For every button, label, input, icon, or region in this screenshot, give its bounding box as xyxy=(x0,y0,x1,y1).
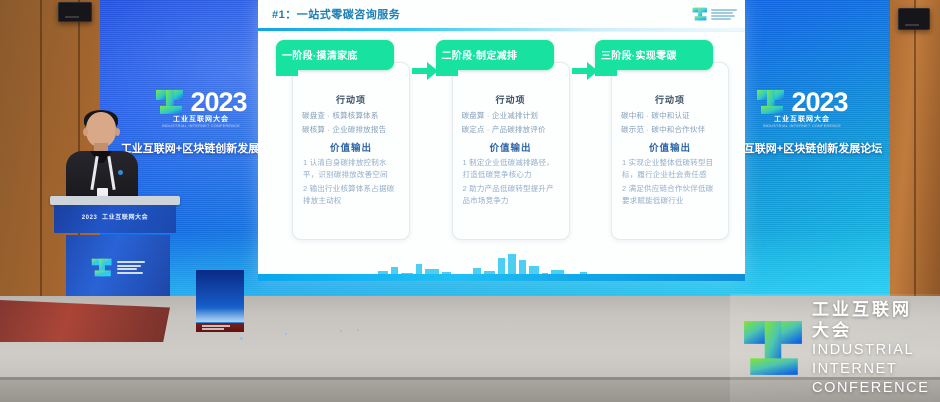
action-item: 碳核算 · 企业碳排放报告 xyxy=(302,124,401,136)
floor-reflection xyxy=(357,329,359,331)
stage-card: 行动项 碳中和 · 碳中和认证 碳示范 · 碳中和合作伙伴 价值输出 1 实现企… xyxy=(611,62,729,240)
wall-seam xyxy=(40,0,42,300)
podium-top-surface xyxy=(50,196,180,205)
stage-card-content: 行动项 碳盘算 · 企业减排计划 碳定点 · 产品碳排放评价 价值输出 1 制定… xyxy=(453,89,569,208)
conference-mark-icon xyxy=(692,6,708,22)
flow-arrow-icon xyxy=(572,62,598,80)
action-heading: 行动项 xyxy=(301,93,401,106)
watermark-line-industrial: INDUSTRIAL xyxy=(812,341,930,360)
ceiling-speaker-left xyxy=(58,2,92,22)
stage-label: 二阶段·制定减排 xyxy=(442,47,518,62)
slide-title: #1：一站式零碳咨询服务 xyxy=(272,6,400,22)
speaker-person xyxy=(66,112,138,208)
watermark-text: 工业互联网大会 INDUSTRIAL INTERNET CONFERENCE xyxy=(812,299,930,397)
value-heading: 价值输出 xyxy=(301,140,401,154)
podium-logo xyxy=(66,235,170,300)
lapel-pin xyxy=(118,170,123,175)
podium-front xyxy=(66,235,170,300)
stage-card: 行动项 碳盘查 · 核算核算体系 碳核算 · 企业碳排放报告 价值输出 1 认清… xyxy=(292,62,410,240)
stage-column: 行动项 碳盘算 · 企业减排计划 碳定点 · 产品碳排放评价 价值输出 1 制定… xyxy=(436,40,568,240)
conference-photo: 2023 工业互联网大会 INDUSTRIAL INTERNET CONFERE… xyxy=(0,0,940,402)
slide-divider-thin xyxy=(258,31,745,32)
backdrop-year-left: 2023 xyxy=(190,89,246,116)
watermark-line-conference: CONFERENCE xyxy=(812,379,930,398)
value-heading: 价值输出 xyxy=(461,140,561,154)
floor-reflection xyxy=(285,333,287,335)
podium-logo-text xyxy=(117,261,145,274)
slide-corner-logo-text xyxy=(711,9,737,20)
backdrop-year-right: 2023 xyxy=(791,89,847,116)
value-heading: 价值输出 xyxy=(620,140,720,154)
stage-card: 行动项 碳盘算 · 企业减排计划 碳定点 · 产品碳排放评价 价值输出 1 制定… xyxy=(452,62,570,240)
podium-year: 2023 xyxy=(82,215,98,221)
action-item: 碳中和 · 碳中和认证 xyxy=(621,110,720,122)
slide-bottom-band xyxy=(258,274,745,281)
i-beam-logo-icon xyxy=(742,317,804,379)
floor-reflection xyxy=(240,337,243,340)
stage-card-content: 行动项 碳中和 · 碳中和认证 碳示范 · 碳中和合作伙伴 价值输出 1 实现企… xyxy=(612,89,728,208)
banner-skyline xyxy=(196,308,244,322)
stage-column: 行动项 碳盘查 · 核算核算体系 碳核算 · 企业碳排放报告 价值输出 1 认清… xyxy=(276,40,408,240)
slide-corner-logo xyxy=(692,6,737,22)
head xyxy=(86,112,116,147)
value-item: 1 制定企业低碳减排路径，打造低碳竞争核心力 xyxy=(463,157,561,181)
action-heading: 行动项 xyxy=(461,93,561,106)
podium-brand-cn: 工业互联网大会 xyxy=(102,215,148,221)
ear xyxy=(115,128,120,136)
wall-seam xyxy=(914,0,916,300)
value-item: 2 输出行业核算体系占据碳排放主动权 xyxy=(303,183,401,207)
value-item: 2 助力产品低碳转型提升产品市场竞争力 xyxy=(463,183,561,207)
value-item: 1 认清自身碳排放控制水平，识别碳排放改善空间 xyxy=(303,157,401,181)
podium: 2023 工业互联网大会 xyxy=(50,196,180,300)
roll-up-banner xyxy=(196,270,244,332)
action-item: 碳定点 · 产品碳排放评价 xyxy=(462,124,561,136)
value-item: 2 满足供应链合作伙伴低碳要求赋能低碳行业 xyxy=(622,183,720,207)
i-beam-logo-icon xyxy=(91,257,113,278)
podium-brand-text: 2023 工业互联网大会 xyxy=(54,212,176,221)
stage-tab-notch xyxy=(595,64,617,76)
stage-column: 行动项 碳中和 · 碳中和认证 碳示范 · 碳中和合作伙伴 价值输出 1 实现企… xyxy=(595,40,727,240)
conference-watermark: 工业互联网大会 INDUSTRIAL INTERNET CONFERENCE xyxy=(730,294,940,402)
stage-label: 一阶段·摸清家底 xyxy=(282,47,358,62)
i-beam-logo-icon xyxy=(756,88,786,116)
watermark-title-cn: 工业互联网大会 xyxy=(812,299,930,342)
stage-label: 三阶段·实现零碳 xyxy=(601,47,677,62)
presentation-slide: #1：一站式零碳咨询服务 xyxy=(258,0,745,281)
action-item: 碳盘算 · 企业减排计划 xyxy=(462,110,561,122)
watermark-line-internet: INTERNET xyxy=(812,360,930,379)
floor-reflection xyxy=(340,330,342,332)
ear xyxy=(83,128,88,136)
podium-name-panel: 2023 工业互联网大会 xyxy=(54,205,176,233)
slide-columns: 行动项 碳盘查 · 核算核算体系 碳核算 · 企业碳排放报告 价值输出 1 认清… xyxy=(258,40,745,240)
stage-tab-notch xyxy=(276,64,298,76)
ceiling-speaker-right xyxy=(898,8,930,30)
action-item: 碳示范 · 碳中和合作伙伴 xyxy=(621,124,720,136)
i-beam-logo-icon xyxy=(155,88,185,116)
flow-arrow-icon xyxy=(412,62,438,80)
stage-tab-notch xyxy=(436,64,458,76)
banner-base xyxy=(196,323,244,332)
action-heading: 行动项 xyxy=(620,93,720,106)
action-item: 碳盘查 · 核算核算体系 xyxy=(302,110,401,122)
stage-card-content: 行动项 碳盘查 · 核算核算体系 碳核算 · 企业碳排放报告 价值输出 1 认清… xyxy=(293,89,409,208)
value-item: 1 实现企业整体低碳转型目标，履行企业社会责任感 xyxy=(622,157,720,181)
